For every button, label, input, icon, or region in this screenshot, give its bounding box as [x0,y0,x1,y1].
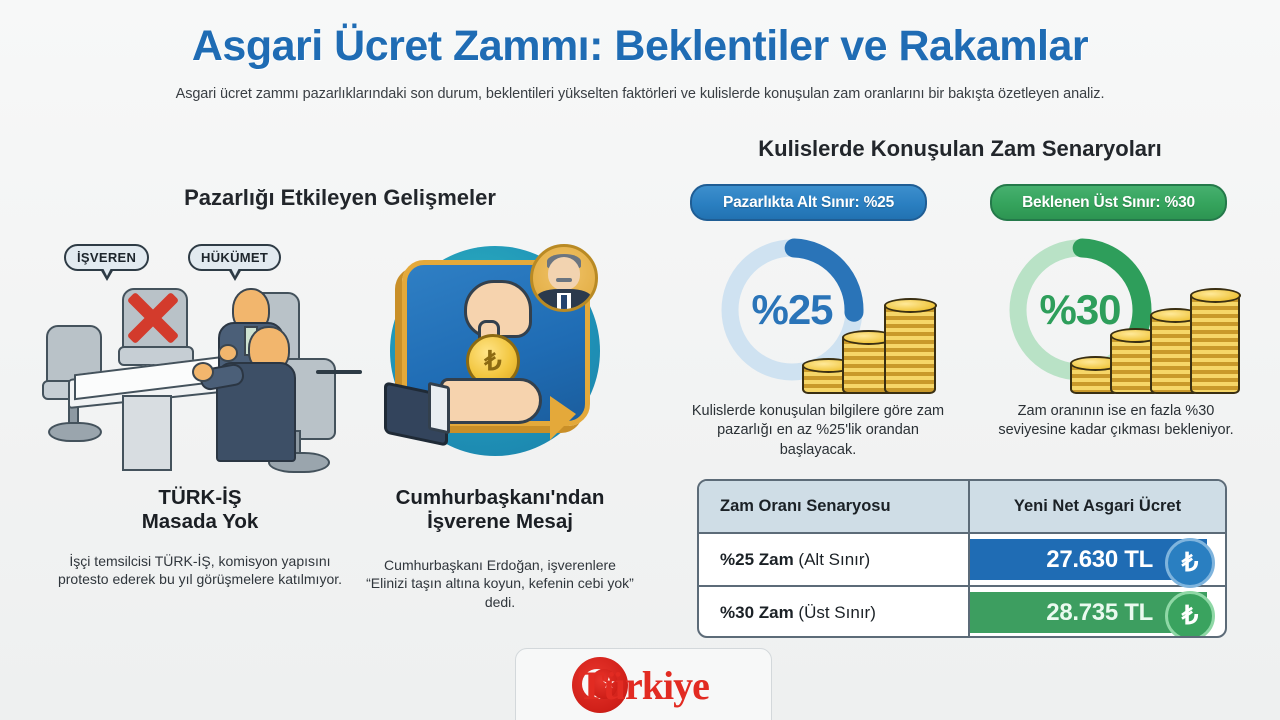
badge-lower-limit: Pazarlıkta Alt Sınır: %25 [690,184,927,221]
card-title-turkis: TÜRK-İŞ Masada Yok [45,486,355,533]
table-cell-scenario-25: %25 Zam (Alt Sınır) [699,534,970,585]
negotiation-table-illustration: İŞVEREN HÜKÜMET [40,240,370,480]
coin-stack-large [884,302,936,394]
brand-logo-card: ★ Türkiye [515,648,772,720]
table-row: %30 Zam (Üst Sınır) 28.735 TL ₺ [699,585,1225,638]
brand-logo-text: Türkiye [578,662,709,709]
brand-logo-rest: ürkiye [604,663,709,708]
scenario-label-25-rest: (Alt Sınır) [794,550,871,569]
card-body-turkis: İşçi temsilcisi TÜRK-İŞ, komisyon yapısı… [52,552,348,589]
receiving-hand [440,378,542,424]
coin-stacks-25 [798,298,922,394]
empty-chair-base-left [48,422,102,442]
scenario-label-30-bold: %30 Zam [720,603,794,622]
card-title-message-line2: İşverene Mesaj [352,510,648,534]
lira-badge-30: ₺ [1165,591,1215,639]
card-title-message: Cumhurbaşkanı'ndan İşverene Mesaj [352,486,648,533]
table-header-row: Zam Oranı Senaryosu Yeni Net Asgari Ücre… [699,481,1225,532]
coin-stack-4 [1190,292,1240,394]
scenario-label-30-rest: (Üst Sınır) [794,603,876,622]
page-subtitle: Asgari ücret zammı pazarlıklarındaki son… [40,86,1240,102]
badge-upper-limit: Beklenen Üst Sınır: %30 [990,184,1227,221]
presidential-message-illustration: ₺ [372,238,622,480]
table-header-value-cell: Yeni Net Asgari Ücret [970,481,1225,532]
right-section-heading: Kulislerde Konuşulan Zam Senaryoları [660,136,1260,162]
table-row: %25 Zam (Alt Sınır) 27.630 TL ₺ [699,532,1225,585]
card-body-message: Cumhurbaşkanı Erdoğan, işverenlere “Elin… [362,556,638,611]
coin-stacks-30 [1068,288,1236,394]
table-cell-value-30: 28.735 TL ₺ [970,587,1225,638]
president-portrait [530,244,598,312]
table-header-value: Yeni Net Asgari Ücret [1014,497,1181,516]
section-connector-line [316,370,362,374]
table-cell-scenario-30: %30 Zam (Üst Sınır) [699,587,970,638]
scenario-label-25: %25 Zam (Alt Sınır) [720,550,870,570]
lira-badge-25: ₺ [1165,538,1215,588]
table-cell-value-25: 27.630 TL ₺ [970,534,1225,585]
brand-logo: ★ Türkiye [578,662,709,709]
brand-logo-initial: T [578,663,604,708]
note-25: Kulislerde konuşulan bilgilere göre zam … [688,402,948,460]
note-30: Zam oranının ise en fazla %30 seviyesine… [988,402,1244,441]
card-title-message-line1: Cumhurbaşkanı'ndan [352,486,648,510]
red-x-icon [122,287,184,349]
card-title-turkis-line1: TÜRK-İŞ [45,486,355,510]
tag-isveren: İŞVEREN [64,244,149,271]
speech-bubble-tail [550,396,576,440]
table-header-scenario: Zam Oranı Senaryosu [720,497,891,516]
scenario-label-25-bold: %25 Zam [720,550,794,569]
infographic-page: Asgari Ücret Zammı: Beklentiler ve Rakam… [0,0,1280,720]
left-section-heading: Pazarlığı Etkileyen Gelişmeler [40,185,640,211]
table-header-scenario-cell: Zam Oranı Senaryosu [699,481,970,532]
meeting-table-leg [122,395,172,471]
person-hand-near [192,362,214,382]
page-title: Asgari Ücret Zammı: Beklentiler ve Rakam… [0,22,1280,71]
shirt-cuff [428,382,450,435]
scenario-label-30: %30 Zam (Üst Sınır) [720,603,876,623]
person-hand-far [218,344,238,362]
card-title-turkis-line2: Masada Yok [45,510,355,534]
salary-scenario-table: Zam Oranı Senaryosu Yeni Net Asgari Ücre… [697,479,1227,638]
tag-hukumet: HÜKÜMET [188,244,281,271]
